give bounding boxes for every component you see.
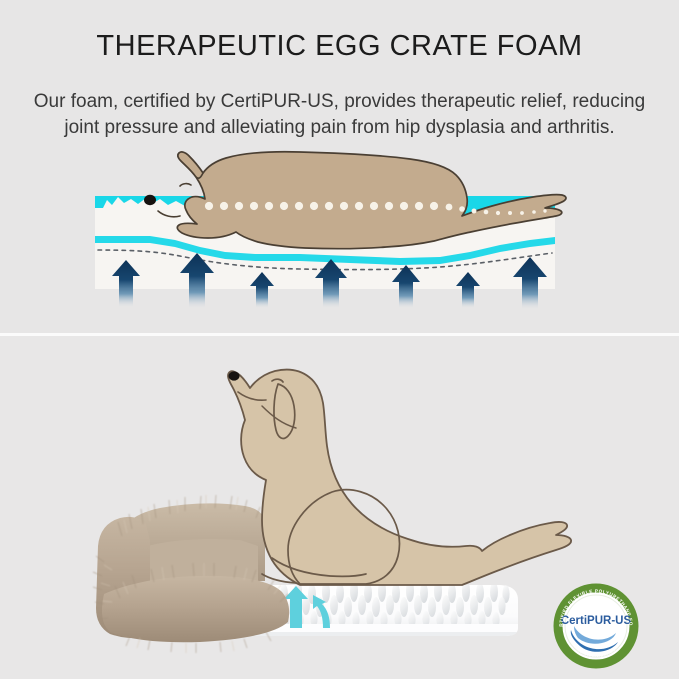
illustration-dog-on-foam-cross-section (0, 0, 679, 336)
illustration-dog-on-bed-ventilation: CertiPUR-US CERTIFIED FLEXIBLE POLYURETH… (0, 336, 679, 679)
dog-bed-fur (93, 495, 289, 653)
certipur-us-seal: CertiPUR-US CERTIFIED FLEXIBLE POLYURETH… (554, 582, 635, 665)
panel-improved-ventilation: CertiPUR-US CERTIFIED FLEXIBLE POLYURETH… (0, 336, 679, 679)
infographic-page: THERAPEUTIC EGG CRATE FOAM Our foam, cer… (0, 0, 679, 679)
panel-therapeutic-foam: THERAPEUTIC EGG CRATE FOAM Our foam, cer… (0, 0, 679, 336)
dog-sitting-illustration (228, 370, 571, 585)
seal-brand-text: CertiPUR-US (561, 615, 632, 627)
